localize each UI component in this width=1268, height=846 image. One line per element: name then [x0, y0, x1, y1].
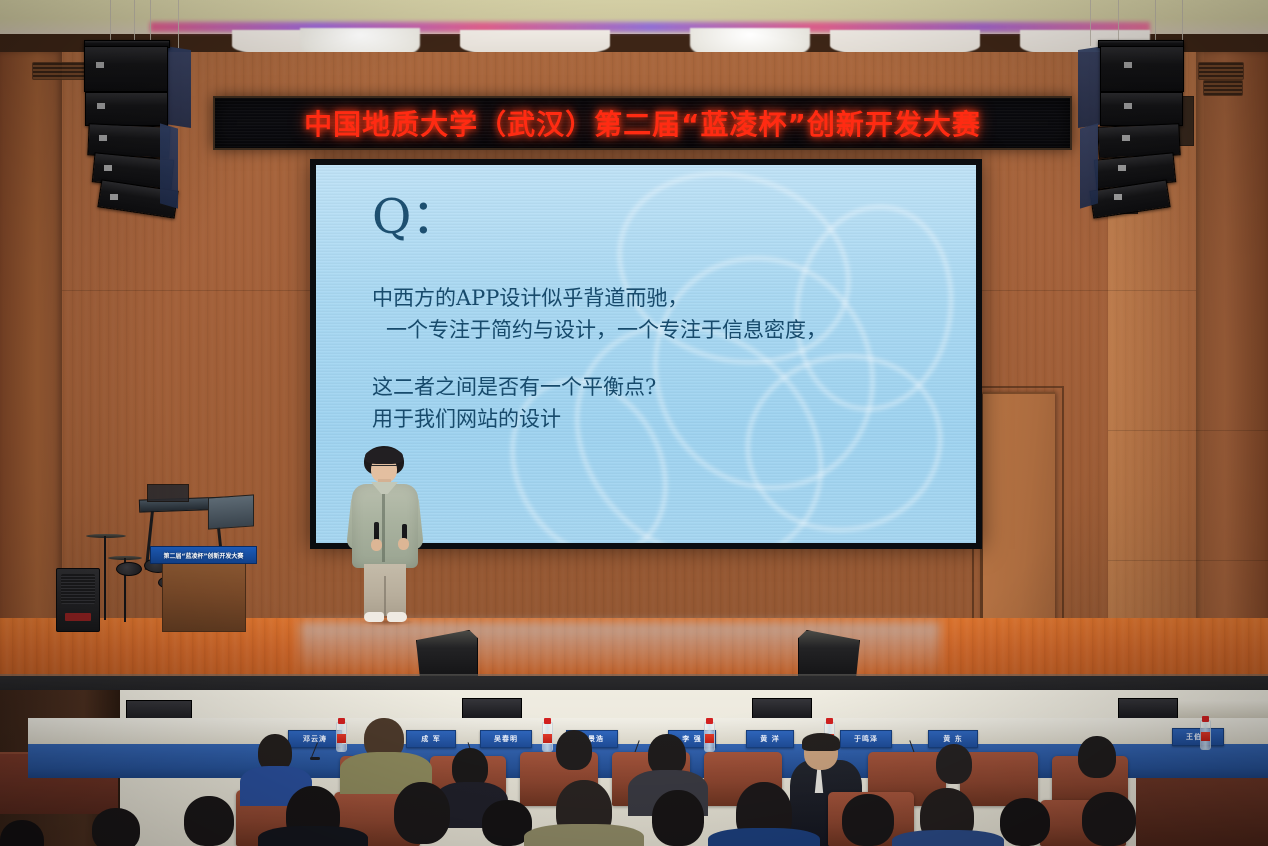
- audience-head: [92, 808, 140, 846]
- audience-head: [556, 730, 592, 770]
- speaker-side-panel: [160, 123, 178, 208]
- wall-vent-right-lower: [1203, 80, 1243, 96]
- name-card-text: 邓云涛: [303, 734, 327, 744]
- speaker-box: [84, 46, 168, 92]
- bottle-label: [705, 734, 714, 743]
- slide-line-4: 用于我们网站的设计: [372, 404, 956, 436]
- speaker-box: [1100, 92, 1183, 126]
- rigging-cable: [1182, 0, 1183, 40]
- judges-table-top: [28, 718, 1268, 744]
- speaker-side-panel: [1080, 123, 1098, 208]
- slide-heading: Q：: [372, 193, 956, 241]
- podium-banner: 第二届“蓝凌杯”创新开发大赛: [150, 546, 257, 564]
- water-bottle: [542, 722, 553, 752]
- auditorium-photo: 中国地质大学（武汉）第二届“蓝凌杯”创新开发大赛 Q： 中西方的APP设计似乎背…: [0, 0, 1268, 846]
- slide-line-3: 这二者之间是否有一个平衡点?: [372, 372, 956, 404]
- presenter-hair-fringe: [365, 448, 403, 464]
- presenter-leg-seam: [384, 576, 386, 616]
- drum-pad: [116, 562, 142, 576]
- audience-head: [394, 782, 450, 844]
- speaker-badge: [99, 135, 107, 141]
- water-bottle: [336, 722, 347, 752]
- audience-head: [1000, 798, 1050, 846]
- speaker-side-panel: [165, 46, 191, 128]
- presenter-glasses: [371, 465, 397, 471]
- audience-head: [1078, 736, 1116, 778]
- keyboard-music-rest: [147, 484, 189, 502]
- audience-hair: [802, 733, 840, 751]
- audience-head: [842, 794, 894, 846]
- presenter-shirt-placket: [382, 490, 385, 562]
- name-card: 成 军: [406, 730, 456, 748]
- presenter: [340, 446, 430, 626]
- name-card: 吴春明: [480, 730, 532, 748]
- wall-seam: [1108, 430, 1268, 431]
- drum-stand: [104, 536, 106, 620]
- wall-column-left: [0, 52, 62, 682]
- led-banner: 中国地质大学（武汉）第二届“蓝凌杯”创新开发大赛: [213, 96, 1072, 150]
- name-card-text: 于鸣泽: [854, 734, 878, 744]
- speaker-badge: [97, 103, 105, 109]
- speaker-box: [85, 92, 168, 126]
- presenter-right-hand: [398, 538, 409, 550]
- wall-seam: [1108, 560, 1268, 561]
- led-banner-text: 中国地质大学（武汉）第二届“蓝凌杯”创新开发大赛: [304, 103, 981, 143]
- audience-head: [184, 796, 234, 846]
- name-card-text: 成 军: [421, 734, 440, 744]
- presenter-left-hand: [371, 539, 382, 551]
- presenter-left-shoe: [364, 612, 384, 622]
- speaker-badge: [1114, 194, 1122, 200]
- name-card-text: 黄 东: [943, 734, 962, 744]
- speaker-badge: [110, 194, 118, 200]
- audience-head: [652, 790, 704, 846]
- name-card: 黄 洋: [746, 730, 794, 748]
- bottle-label: [337, 734, 346, 743]
- podium: [162, 553, 246, 632]
- name-card-text: 李 强: [682, 734, 701, 744]
- name-card-text: 黄 洋: [760, 734, 779, 744]
- table-microphone-base: [310, 757, 320, 760]
- wall-vent-right: [1198, 62, 1244, 80]
- presenter-right-shoe: [387, 612, 407, 622]
- rigging-cable: [178, 0, 179, 48]
- speaker-badge: [1124, 62, 1132, 68]
- rigging-cable: [1118, 0, 1119, 44]
- slide-spacer: [372, 346, 956, 372]
- speaker-badge: [1118, 165, 1126, 171]
- audience-shoulders: [708, 828, 820, 846]
- wall-column-right: [1196, 52, 1268, 682]
- name-card: 于鸣泽: [840, 730, 892, 748]
- speaker-badge: [96, 62, 104, 68]
- side-door[interactable]: [980, 392, 1055, 624]
- wall-vent-left: [32, 62, 86, 80]
- slide-line-1: 中西方的APP设计似乎背道而驰，: [372, 283, 956, 315]
- drum-cymbal: [86, 534, 126, 538]
- speaker-badge: [104, 165, 112, 171]
- speaker-box: [1100, 46, 1184, 92]
- bottle-label: [543, 734, 552, 743]
- audience-head: [936, 744, 972, 784]
- portable-amp-speaker: [56, 568, 100, 632]
- bottle-label: [1201, 732, 1210, 741]
- slide-line-2: 一个专注于简约与设计，一个专注于信息密度，: [372, 315, 956, 347]
- podium-banner-text: 第二届“蓝凌杯”创新开发大赛: [164, 551, 244, 560]
- speaker-badge: [1122, 135, 1130, 141]
- audience-shoulders: [524, 824, 644, 846]
- speaker-badge: [1124, 103, 1132, 109]
- podium-laptop: [208, 494, 254, 529]
- name-card: 王伯东: [1172, 728, 1224, 746]
- presenter-shirt: [352, 484, 418, 568]
- audience-shoulders: [892, 830, 1004, 846]
- slide-content: Q： 中西方的APP设计似乎背道而驰， 一个专注于简约与设计，一个专注于信息密度…: [372, 193, 956, 435]
- water-bottle: [704, 722, 715, 752]
- name-card-text: 吴春明: [494, 734, 518, 744]
- amp-label: [65, 613, 91, 621]
- rigging-cable: [1090, 0, 1091, 46]
- amp-grill: [61, 574, 95, 604]
- audience-shoulders: [258, 826, 368, 846]
- audience-head: [1082, 792, 1136, 846]
- water-bottle: [1200, 720, 1211, 750]
